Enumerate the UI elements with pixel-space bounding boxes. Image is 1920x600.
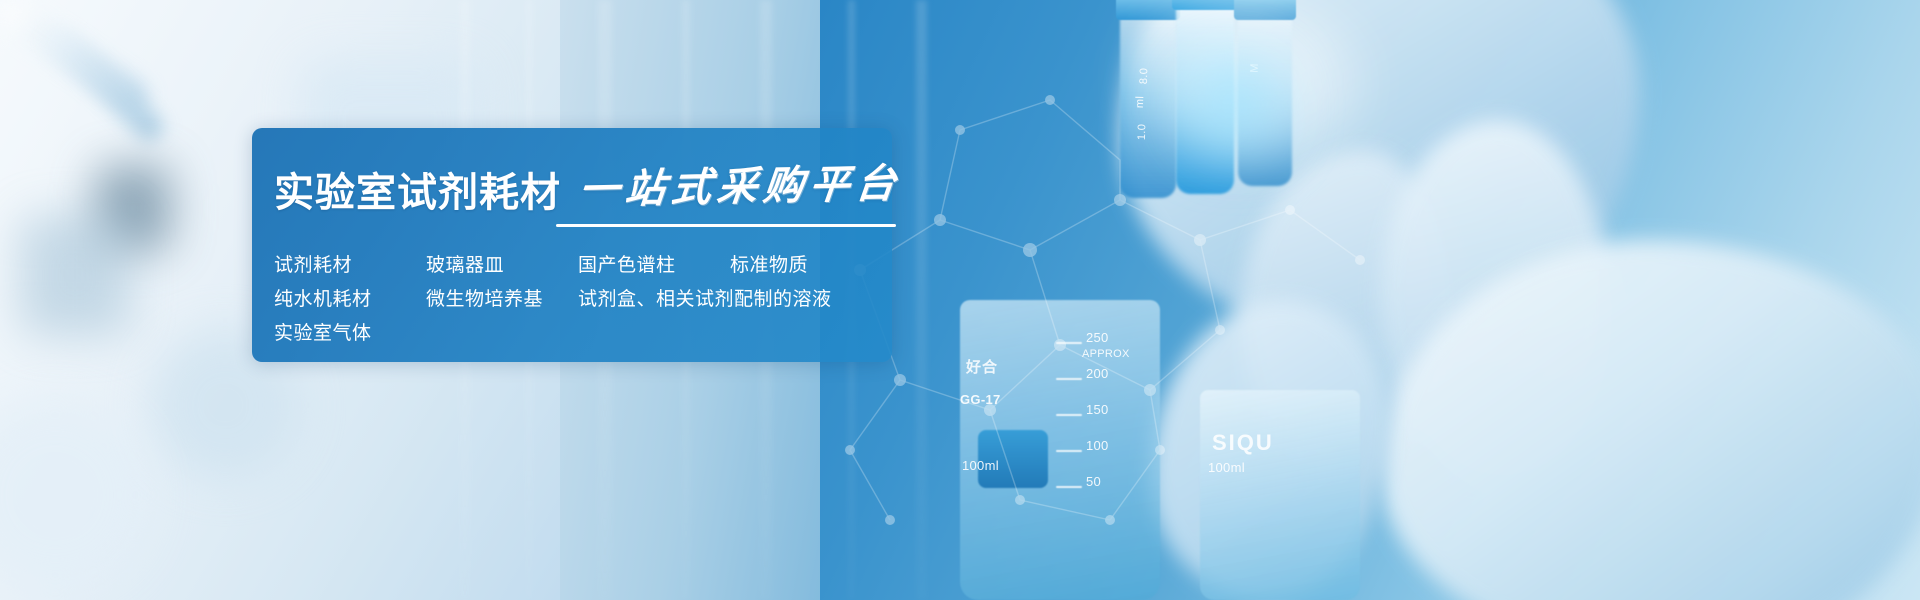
category-row: 试剂耗材 玻璃器皿 国产色谱柱 标准物质 bbox=[274, 248, 892, 282]
lab-reagent-promo-banner: 8.0 ml M 1.0 好合 GG-17 100ml 250 APPROX 2… bbox=[0, 0, 1920, 600]
category-item-domestic-column[interactable]: 国产色谱柱 bbox=[578, 248, 730, 282]
banner-headline: 实验室试剂耗材一站式采购平台 bbox=[274, 164, 892, 226]
headline-brush-text: 一站式采购平台 bbox=[574, 161, 910, 220]
category-row: 纯水机耗材 微生物培养基 试剂盒、相关试剂配制的溶液 bbox=[274, 282, 892, 316]
category-item-kits-and-solutions[interactable]: 试剂盒、相关试剂配制的溶液 bbox=[578, 282, 832, 316]
category-item-water-system-consumables[interactable]: 纯水机耗材 bbox=[274, 282, 426, 316]
promo-text-panel: 实验室试剂耗材一站式采购平台 试剂耗材 玻璃器皿 国产色谱柱 标准物质 纯水机耗… bbox=[252, 128, 892, 362]
category-item-glassware[interactable]: 玻璃器皿 bbox=[426, 248, 578, 282]
category-row: 实验室气体 bbox=[274, 316, 892, 350]
light-flare-tube bbox=[1190, 60, 1280, 150]
promo-panel-inner: 实验室试剂耗材一站式采购平台 试剂耗材 玻璃器皿 国产色谱柱 标准物质 纯水机耗… bbox=[252, 128, 892, 362]
category-item-reagent-consumables[interactable]: 试剂耗材 bbox=[274, 248, 426, 282]
category-item-microbial-media[interactable]: 微生物培养基 bbox=[426, 282, 578, 316]
category-item-lab-gas[interactable]: 实验室气体 bbox=[274, 316, 426, 350]
category-item-reference-material[interactable]: 标准物质 bbox=[730, 248, 808, 282]
headline-underline bbox=[556, 224, 896, 227]
category-list: 试剂耗材 玻璃器皿 国产色谱柱 标准物质 纯水机耗材 微生物培养基 试剂盒、相关… bbox=[274, 248, 892, 350]
headline-bold-text: 实验室试剂耗材 bbox=[274, 170, 561, 216]
blurred-vial-light bbox=[20, 215, 130, 335]
streak-7 bbox=[916, 0, 927, 600]
